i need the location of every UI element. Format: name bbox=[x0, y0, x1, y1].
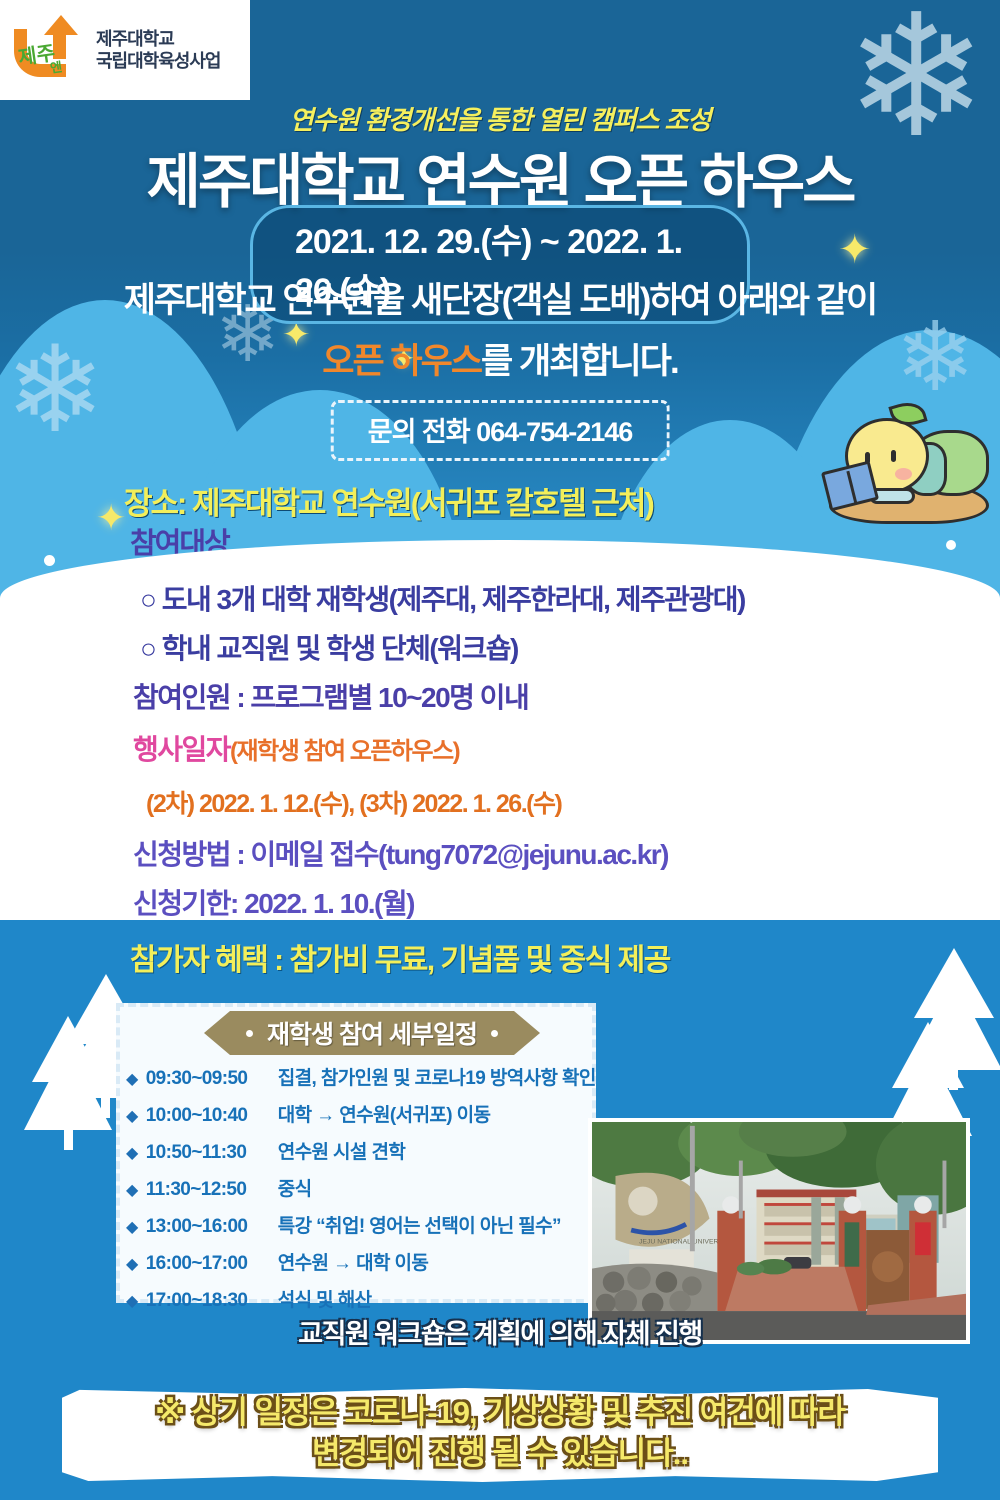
logo-line1: 제주대학교 bbox=[96, 28, 220, 51]
diamond-icon: ◆ bbox=[126, 1143, 138, 1163]
schedule-desc: 집결, 참가인원 및 코로나19 방역사항 확인 bbox=[278, 1063, 596, 1090]
event-date-sub: (재학생 참여 오픈하우스) bbox=[230, 738, 459, 765]
schedule-desc: 특강 “취업! 영어는 선택이 아닌 필수” bbox=[278, 1211, 561, 1238]
schedule-time: 11:30~12:50 bbox=[146, 1179, 270, 1201]
place-text: 장소: 제주대학교 연수원(서귀포 칼호텔 근처) bbox=[124, 478, 653, 523]
event-rounds-text: (2차) 2022. 1. 12.(수), (3차) 2022. 1. 26.(… bbox=[146, 784, 561, 820]
schedule-time: 10:00~10:40 bbox=[146, 1105, 270, 1127]
benefit-text: 참가자 혜택 : 참가비 무료, 기념품 및 중식 제공 bbox=[130, 935, 670, 979]
schedule-row: ◆ 09:30~09:50 집결, 참가인원 및 코로나19 방역사항 확인 bbox=[126, 1063, 596, 1090]
lead-text-line2: 오픈 하우스를 개최합니다. bbox=[0, 333, 1000, 384]
diamond-icon: ◆ bbox=[126, 1217, 138, 1237]
lead-highlight: 오픈 하우스 bbox=[322, 342, 481, 381]
schedule-time: 13:00~16:00 bbox=[146, 1216, 270, 1238]
schedule-time: 17:00~18:30 bbox=[146, 1290, 270, 1312]
warning-line2: 변경되어 진행 될 수 있습니다.. bbox=[0, 1434, 1000, 1475]
tree-trunk bbox=[949, 1066, 958, 1090]
schedule-desc: 석식 및 해산 bbox=[278, 1285, 372, 1312]
contact-phone-box: 문의 전화 064-754-2146 bbox=[331, 400, 670, 461]
lead-rest: 를 개최합니다. bbox=[481, 342, 678, 381]
tangerine-mascot-icon bbox=[825, 400, 993, 532]
staff-workshop-note: 교직원 워크숍은 계획에 의해 자체 진행 bbox=[0, 1312, 1000, 1351]
apply-method-text: 신청방법 : 이메일 접수(tung7072@jejunu.ac.kr) bbox=[133, 833, 668, 873]
diamond-icon: ◆ bbox=[126, 1291, 138, 1311]
logo-line2: 국립대학육성사업 bbox=[96, 50, 220, 73]
schedule-desc: 연수원 시설 견학 bbox=[278, 1137, 406, 1164]
dot-decoration bbox=[44, 555, 55, 566]
campus-gate-photo: JEJU NATIONAL UNIVERSITY bbox=[588, 1118, 970, 1344]
poster-kicker: 연수원 환경개선을 통한 열린 캠퍼스 조성 bbox=[0, 100, 1000, 137]
schedule-row: ◆ 11:30~12:50 중식 bbox=[126, 1174, 596, 1201]
dot-decoration bbox=[946, 540, 956, 550]
schedule-time: 16:00~17:00 bbox=[146, 1253, 270, 1275]
diamond-icon: ◆ bbox=[126, 1254, 138, 1274]
schedule-row: ◆ 16:00~17:00 연수원 → 대학 이동 bbox=[126, 1248, 596, 1275]
ribbon-dot bbox=[246, 1030, 253, 1037]
schedule-desc: 대학 → 연수원(서귀포) 이동 bbox=[278, 1100, 491, 1127]
diamond-icon: ◆ bbox=[126, 1069, 138, 1089]
ribbon-dot bbox=[491, 1030, 498, 1037]
apply-due-text: 신청기한: 2022. 1. 10.(월) bbox=[133, 882, 414, 922]
schedule-row: ◆ 13:00~16:00 특강 “취업! 영어는 선택이 아닌 필수” bbox=[126, 1211, 596, 1238]
target-item: ○ 도내 3개 대학 재학생(제주대, 제주한라대, 제주관광대) bbox=[140, 578, 745, 618]
logo-u-arrow-icon: 제주 엔 bbox=[10, 13, 88, 87]
sparkle-icon: ✦ bbox=[838, 230, 872, 270]
poster: ❄ ❄ ❄ ❄ ✦ ✦ ✦ ✦ 제주 엔 제주대학교 국립대학육성사업 연수원 … bbox=[0, 0, 1000, 1500]
event-date-label-main: 행사일자 bbox=[133, 734, 230, 765]
lead-text-line1: 제주대학교 연수원을 새단장(객실 도배)하여 아래와 같이 bbox=[0, 272, 1000, 323]
schedule-desc: 중식 bbox=[278, 1174, 312, 1201]
event-date-label: 행사일자(재학생 참여 오픈하우스) bbox=[133, 728, 459, 768]
university-logo: 제주 엔 제주대학교 국립대학육성사업 bbox=[0, 0, 250, 100]
schedule-list: ◆ 09:30~09:50 집결, 참가인원 및 코로나19 방역사항 확인 ◆… bbox=[126, 1063, 596, 1322]
diamond-icon: ◆ bbox=[126, 1106, 138, 1126]
capacity-text: 참여인원 : 프로그램별 10~20명 이내 bbox=[133, 676, 528, 716]
tree-trunk bbox=[101, 1094, 110, 1118]
warning-line1: ※ 상기 일정은 코로나-19, 기상상황 및 추진 여건에 따라 bbox=[0, 1393, 1000, 1434]
schedule-title-ribbon: 재학생 참여 세부일정 bbox=[204, 1011, 540, 1055]
diamond-icon: ◆ bbox=[126, 1180, 138, 1200]
tree-trunk bbox=[64, 1128, 73, 1150]
warning-text: ※ 상기 일정은 코로나-19, 기상상황 및 추진 여건에 따라 변경되어 진… bbox=[0, 1393, 1000, 1475]
schedule-title: 재학생 참여 세부일정 bbox=[267, 1015, 477, 1051]
schedule-time: 09:30~09:50 bbox=[146, 1068, 270, 1090]
schedule-row: ◆ 10:50~11:30 연수원 시설 견학 bbox=[126, 1137, 596, 1164]
schedule-desc: 연수원 → 대학 이동 bbox=[278, 1248, 429, 1275]
schedule-time: 10:50~11:30 bbox=[146, 1142, 270, 1164]
schedule-row: ◆ 17:00~18:30 석식 및 해산 bbox=[126, 1285, 596, 1312]
tree-icon bbox=[914, 948, 994, 1018]
schedule-row: ◆ 10:00~10:40 대학 → 연수원(서귀포) 이동 bbox=[126, 1100, 596, 1127]
logo-mark-en: 엔 bbox=[49, 56, 63, 76]
sparkle-icon: ✦ bbox=[96, 500, 126, 536]
logo-text-block: 제주대학교 국립대학육성사업 bbox=[96, 28, 220, 73]
target-item: ○ 학내 교직원 및 학생 단체(워크숍) bbox=[140, 627, 518, 667]
